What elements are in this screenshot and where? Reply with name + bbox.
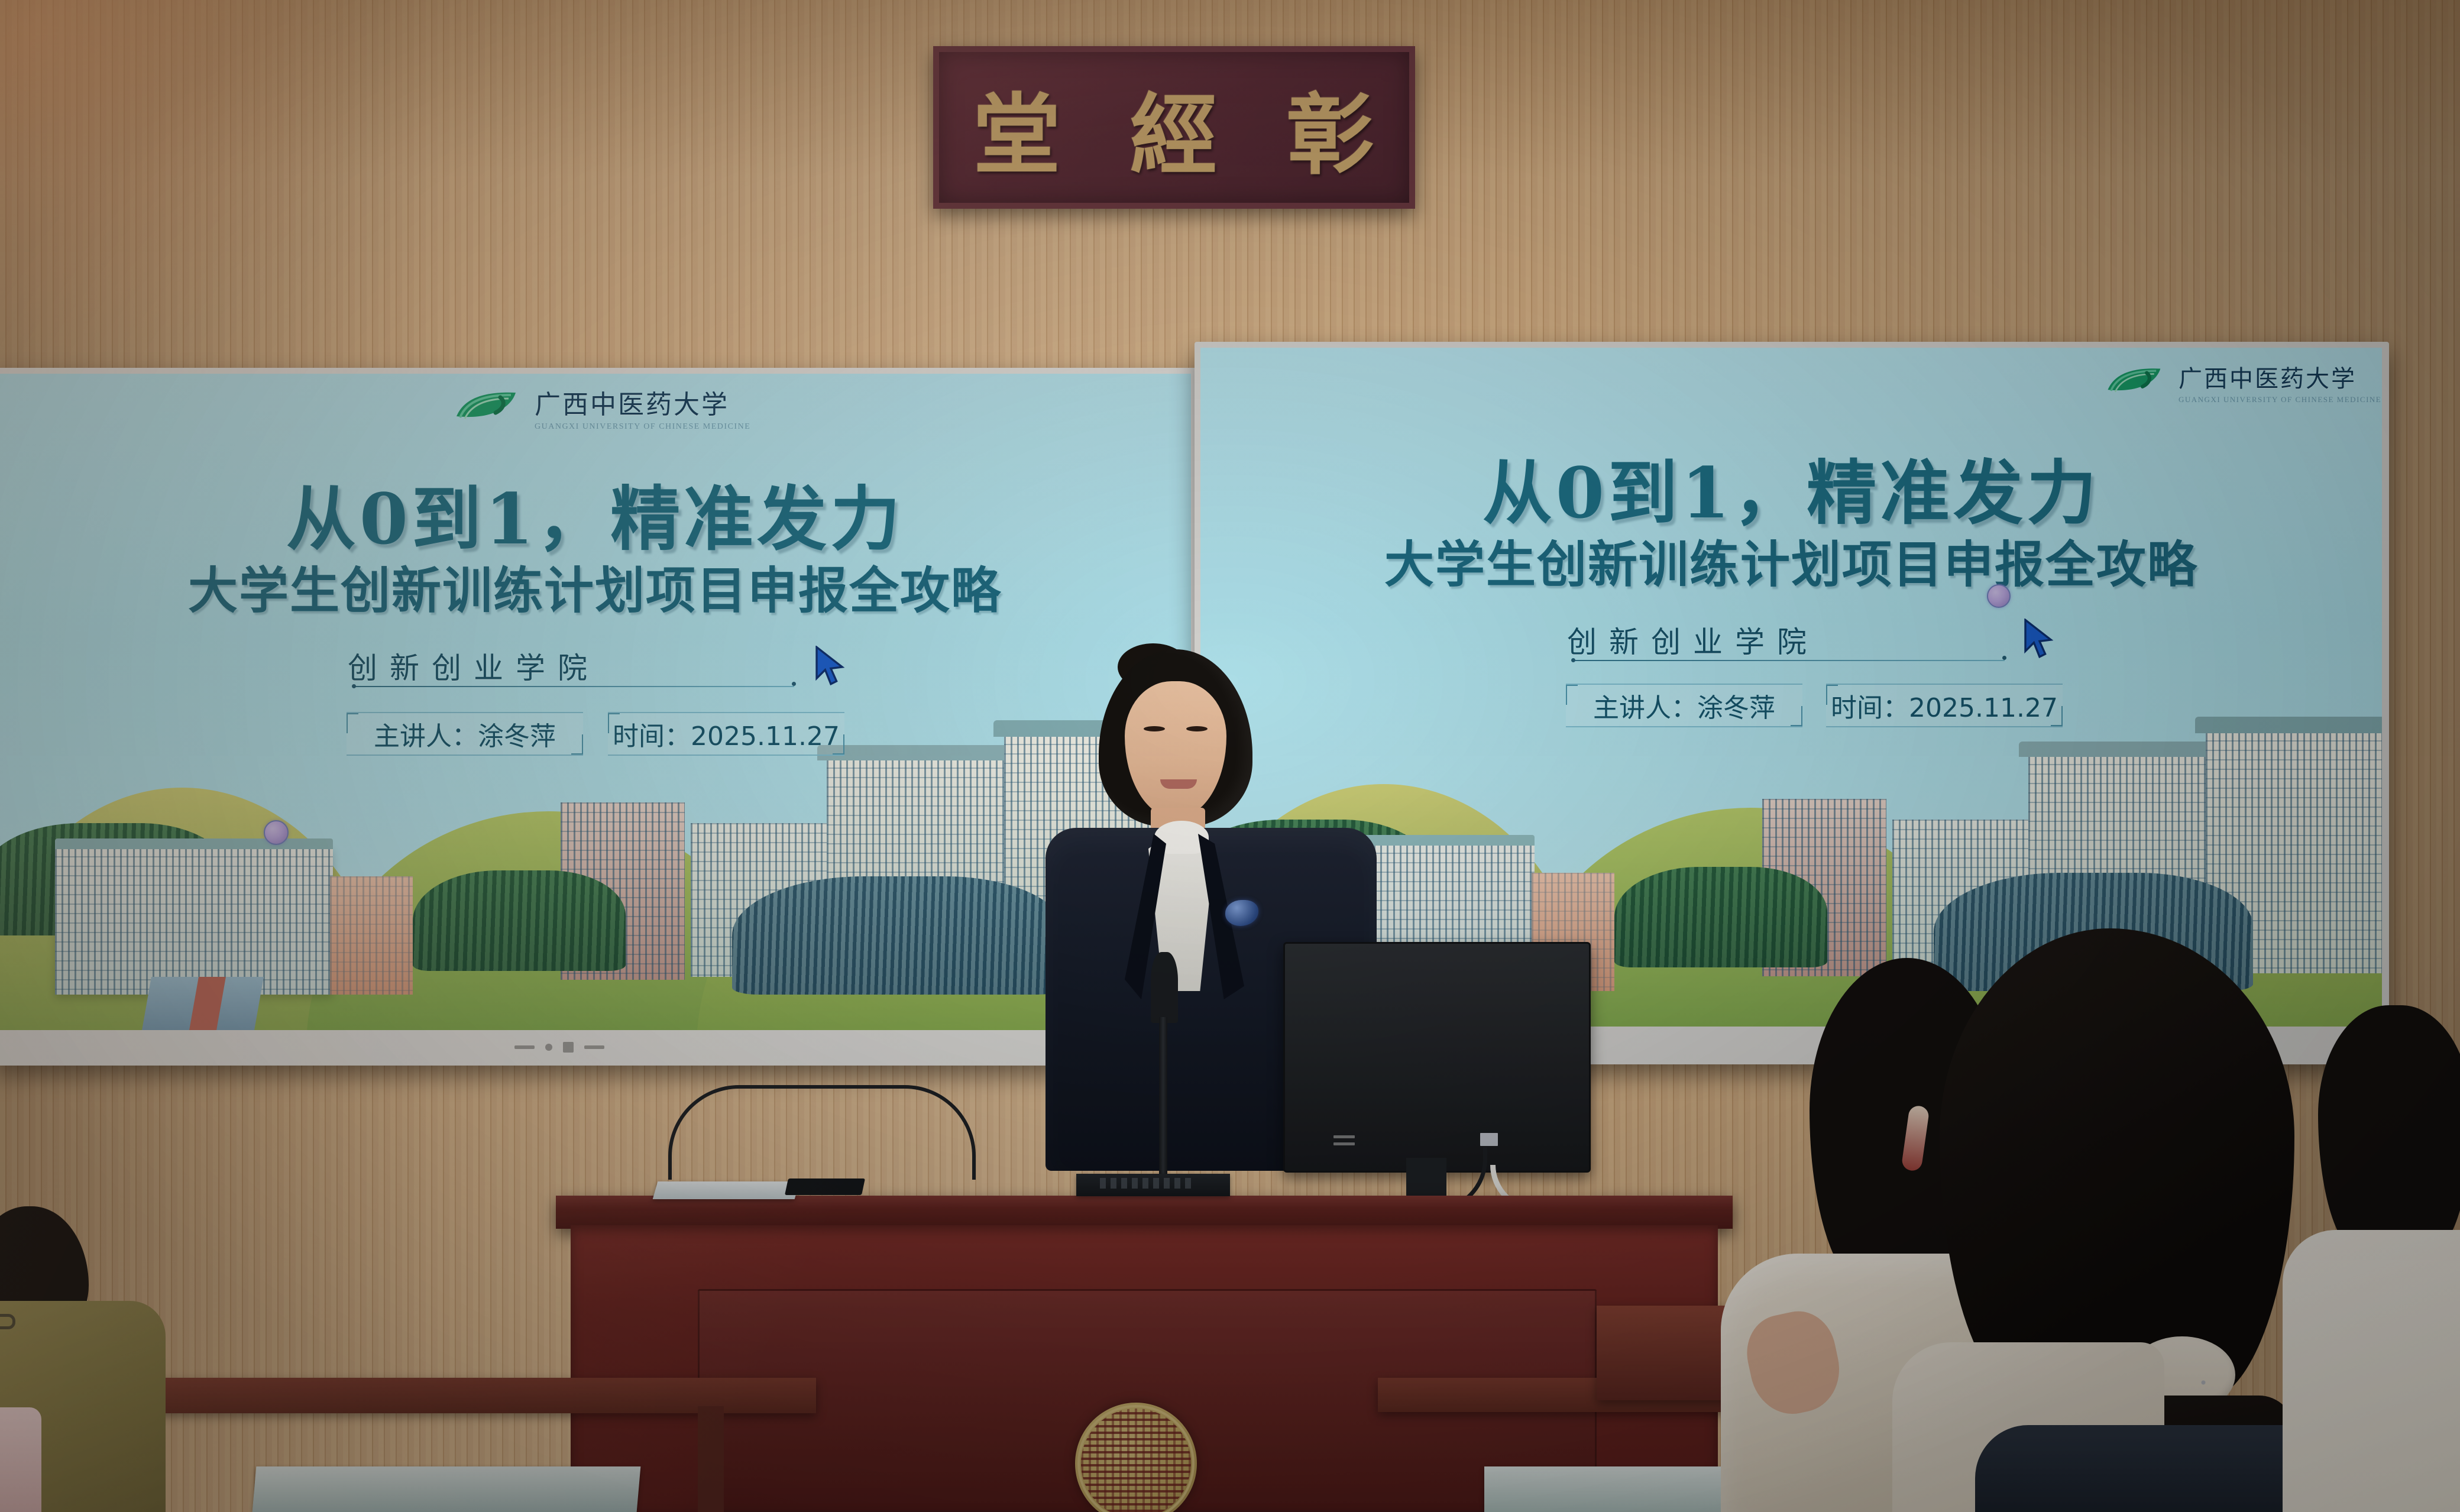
slide-subtitle: 大学生创新训练计划项目申报全攻略	[1200, 525, 2382, 597]
audience-member-white-coat	[2294, 1005, 2460, 1512]
building-windows	[55, 847, 333, 995]
audience-scarf	[0, 1407, 41, 1512]
mouse-cursor-icon	[814, 646, 848, 691]
presenter-eye-right	[1186, 726, 1208, 731]
building-windows	[330, 876, 413, 995]
presenter-mouth	[1160, 779, 1197, 789]
decorative-dot	[264, 820, 289, 845]
keyboard-keys	[1100, 1178, 1195, 1189]
department-underline	[354, 686, 794, 687]
campus-illustration	[0, 699, 1191, 1030]
microphone-head	[1151, 952, 1178, 1023]
date-tag: 时间：2025.11.27	[1826, 684, 2063, 727]
slide-department: 创新创业学院	[348, 645, 600, 687]
left-screen-bezel-buttons[interactable]	[514, 1042, 604, 1053]
logo-english-name: GUANGXI UNIVERSITY OF CHINESE MEDICINE	[535, 422, 750, 432]
bezel-indicator	[584, 1045, 604, 1049]
audience-hair	[2318, 1005, 2460, 1254]
eyeglasses-icon	[0, 1314, 15, 1329]
presenter-eye-left	[1144, 726, 1165, 731]
slide-subtitle: 大学生创新训练计划项目申报全攻略	[0, 551, 1191, 623]
speaker-tag: 主讲人：涂冬萍	[347, 712, 583, 756]
slide-department: 创新创业学院	[1567, 619, 1819, 661]
slide-title: 从0到1，精准发力	[1200, 436, 2382, 538]
bezel-indicator	[514, 1045, 535, 1049]
left-screen-bezel: 广西中医药大学 GUANGXI UNIVERSITY OF CHINESE ME…	[0, 374, 1191, 1030]
audience-hair	[1940, 928, 2294, 1401]
leaf-icon	[454, 390, 527, 425]
monitor-label	[1333, 1135, 1355, 1138]
logo-chinese-name: 广西中医药大学	[2179, 360, 2381, 394]
handout-papers[interactable]	[653, 1181, 800, 1199]
bezel-indicator	[563, 1042, 574, 1053]
monitor-label	[1333, 1142, 1355, 1145]
lecture-hall-photo: 堂 經 彰	[0, 0, 2460, 1512]
logo-chinese-name: 广西中医药大学	[535, 383, 750, 421]
desk-document-right[interactable]	[1484, 1466, 1733, 1512]
plaque-char-3: 彰	[1287, 64, 1375, 191]
tree-band-right	[732, 876, 1063, 995]
plaque-char-2: 經	[1130, 64, 1219, 191]
microphone-stem	[1159, 1017, 1167, 1177]
university-logo: 广西中医药大学 GUANGXI UNIVERSITY OF CHINESE ME…	[454, 383, 750, 432]
bezel-indicator	[545, 1044, 552, 1051]
wall-warm-highlight	[0, 0, 378, 367]
podium-desk-top	[556, 1196, 1733, 1229]
logo-english-name: GUANGXI UNIVERSITY OF CHINESE MEDICINE	[2179, 395, 2381, 404]
audience-white-coat	[2283, 1230, 2460, 1512]
building-left-annex	[330, 876, 413, 995]
date-tag: 时间：2025.11.27	[608, 712, 844, 756]
left-slide-content: 广西中医药大学 GUANGXI UNIVERSITY OF CHINESE ME…	[0, 374, 1191, 1030]
bench-leg	[698, 1406, 724, 1512]
tree-band-center	[413, 870, 626, 971]
mouse-cursor-icon	[2022, 619, 2057, 664]
audience-member-olive	[0, 1212, 166, 1512]
calligraphy-plaque: 堂 經 彰	[933, 46, 1415, 209]
university-logo: 广西中医药大学 GUANGXI UNIVERSITY OF CHINESE ME…	[2105, 360, 2381, 404]
left-screen[interactable]: 广西中医药大学 GUANGXI UNIVERSITY OF CHINESE ME…	[0, 368, 1200, 1066]
decorative-dot	[1987, 584, 2011, 608]
slide-title: 从0到1，精准发力	[0, 462, 1191, 564]
presentation-clicker[interactable]	[785, 1178, 865, 1195]
desktop-monitor[interactable]	[1283, 942, 1591, 1173]
plaque-char-1: 堂	[973, 64, 1062, 191]
monitor-power-led	[1480, 1133, 1498, 1146]
leaf-icon	[2105, 367, 2171, 398]
desk-document-left[interactable]	[253, 1466, 641, 1512]
wall-cable-loop	[668, 1085, 976, 1180]
speaker-tag: 主讲人：涂冬萍	[1566, 684, 1802, 727]
department-underline	[1573, 660, 2005, 661]
building-left-main	[55, 847, 333, 995]
